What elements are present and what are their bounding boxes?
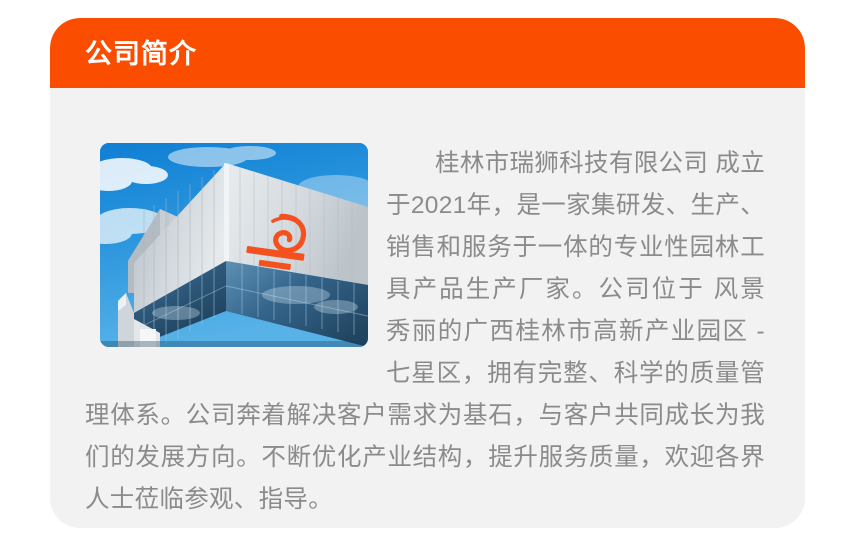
- company-intro-page: 公司简介: [0, 0, 850, 558]
- company-building-photo: [100, 143, 368, 347]
- company-intro-card: 公司简介: [50, 18, 805, 528]
- page-title: 公司简介: [85, 37, 197, 71]
- section-header-bar: 公司简介: [50, 18, 805, 88]
- section-body: 桂林市瑞狮科技有限公司 成立于2021年，是一家集研发、生产、销售和服务于一体的…: [50, 88, 805, 528]
